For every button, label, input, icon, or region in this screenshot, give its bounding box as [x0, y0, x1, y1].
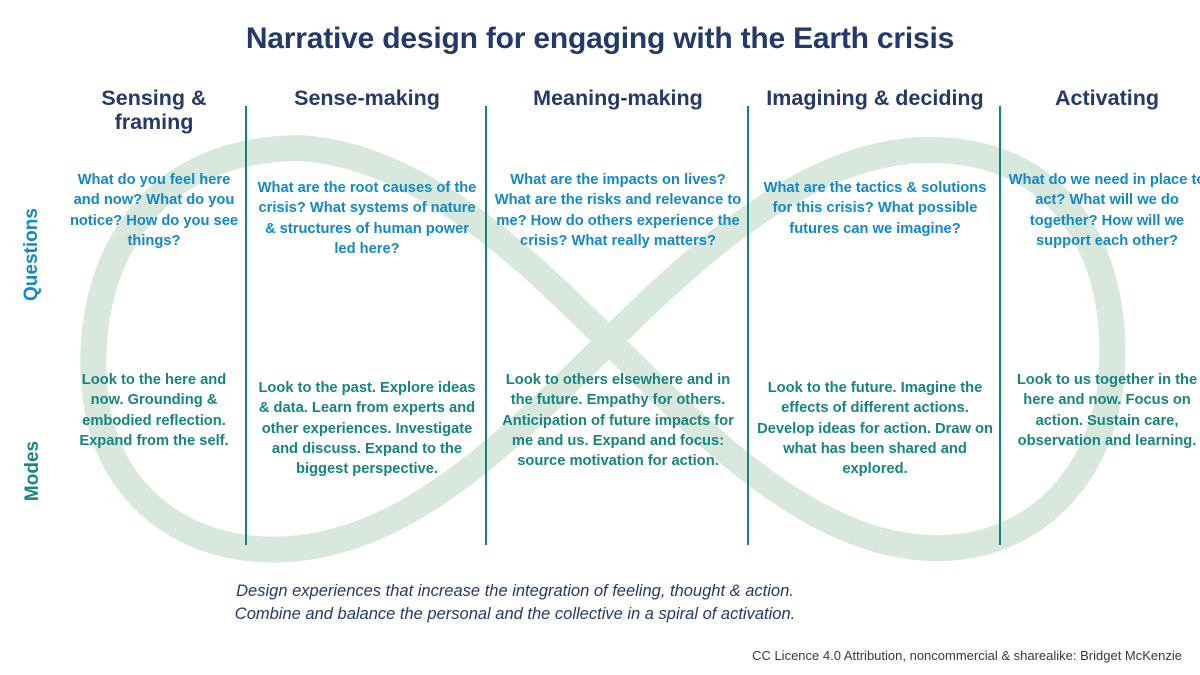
- column-divider: [999, 106, 1001, 545]
- column-divider: [747, 106, 749, 545]
- column-header: Activating: [1008, 84, 1200, 156]
- cell-questions: What are the impacts on lives? What are …: [494, 156, 742, 356]
- page-title: Narrative design for engaging with the E…: [0, 22, 1200, 56]
- column-meaning-making: Meaning-making What are the impacts on l…: [494, 84, 742, 559]
- credit-line: CC Licence 4.0 Attribution, noncommercia…: [752, 648, 1182, 663]
- cell-modes: Look to us together in the here and now.…: [1008, 356, 1200, 556]
- column-header: Sense-making: [254, 84, 480, 156]
- row-label-modes: Modes: [22, 433, 44, 509]
- column-activating: Activating What do we need in place to a…: [1008, 84, 1200, 559]
- footer-note-line-1: Design experiences that increase the int…: [0, 580, 1030, 603]
- infographic-canvas: Narrative design for engaging with the E…: [0, 0, 1200, 675]
- column-divider: [485, 106, 487, 545]
- column-divider: [245, 106, 247, 545]
- cell-modes: Look to the here and now. Grounding & em…: [68, 356, 240, 556]
- column-sensing-framing: Sensing & framing What do you feel here …: [68, 84, 240, 559]
- cell-questions: What do you feel here and now? What do y…: [68, 156, 240, 356]
- cell-questions: What do we need in place to act? What wi…: [1008, 156, 1200, 356]
- column-header: Sensing & framing: [68, 84, 240, 156]
- column-imagining-deciding: Imagining & deciding What are the tactic…: [756, 84, 994, 559]
- cell-modes: Look to others elsewhere and in the futu…: [494, 356, 742, 556]
- column-header: Imagining & deciding: [756, 84, 994, 156]
- row-label-questions: Questions: [21, 211, 43, 301]
- cell-questions: What are the tactics & solutions for thi…: [756, 156, 994, 356]
- cell-modes: Look to the past. Explore ideas & data. …: [254, 356, 480, 556]
- cell-questions: What are the root causes of the crisis? …: [254, 156, 480, 356]
- narrative-design-matrix: Sensing & framing What do you feel here …: [68, 84, 1192, 559]
- column-header: Meaning-making: [494, 84, 742, 156]
- cell-modes: Look to the future. Imagine the effects …: [756, 356, 994, 556]
- footer-note-line-2: Combine and balance the personal and the…: [0, 603, 1030, 626]
- column-sense-making: Sense-making What are the root causes of…: [254, 84, 480, 559]
- footer-note: Design experiences that increase the int…: [0, 580, 1030, 627]
